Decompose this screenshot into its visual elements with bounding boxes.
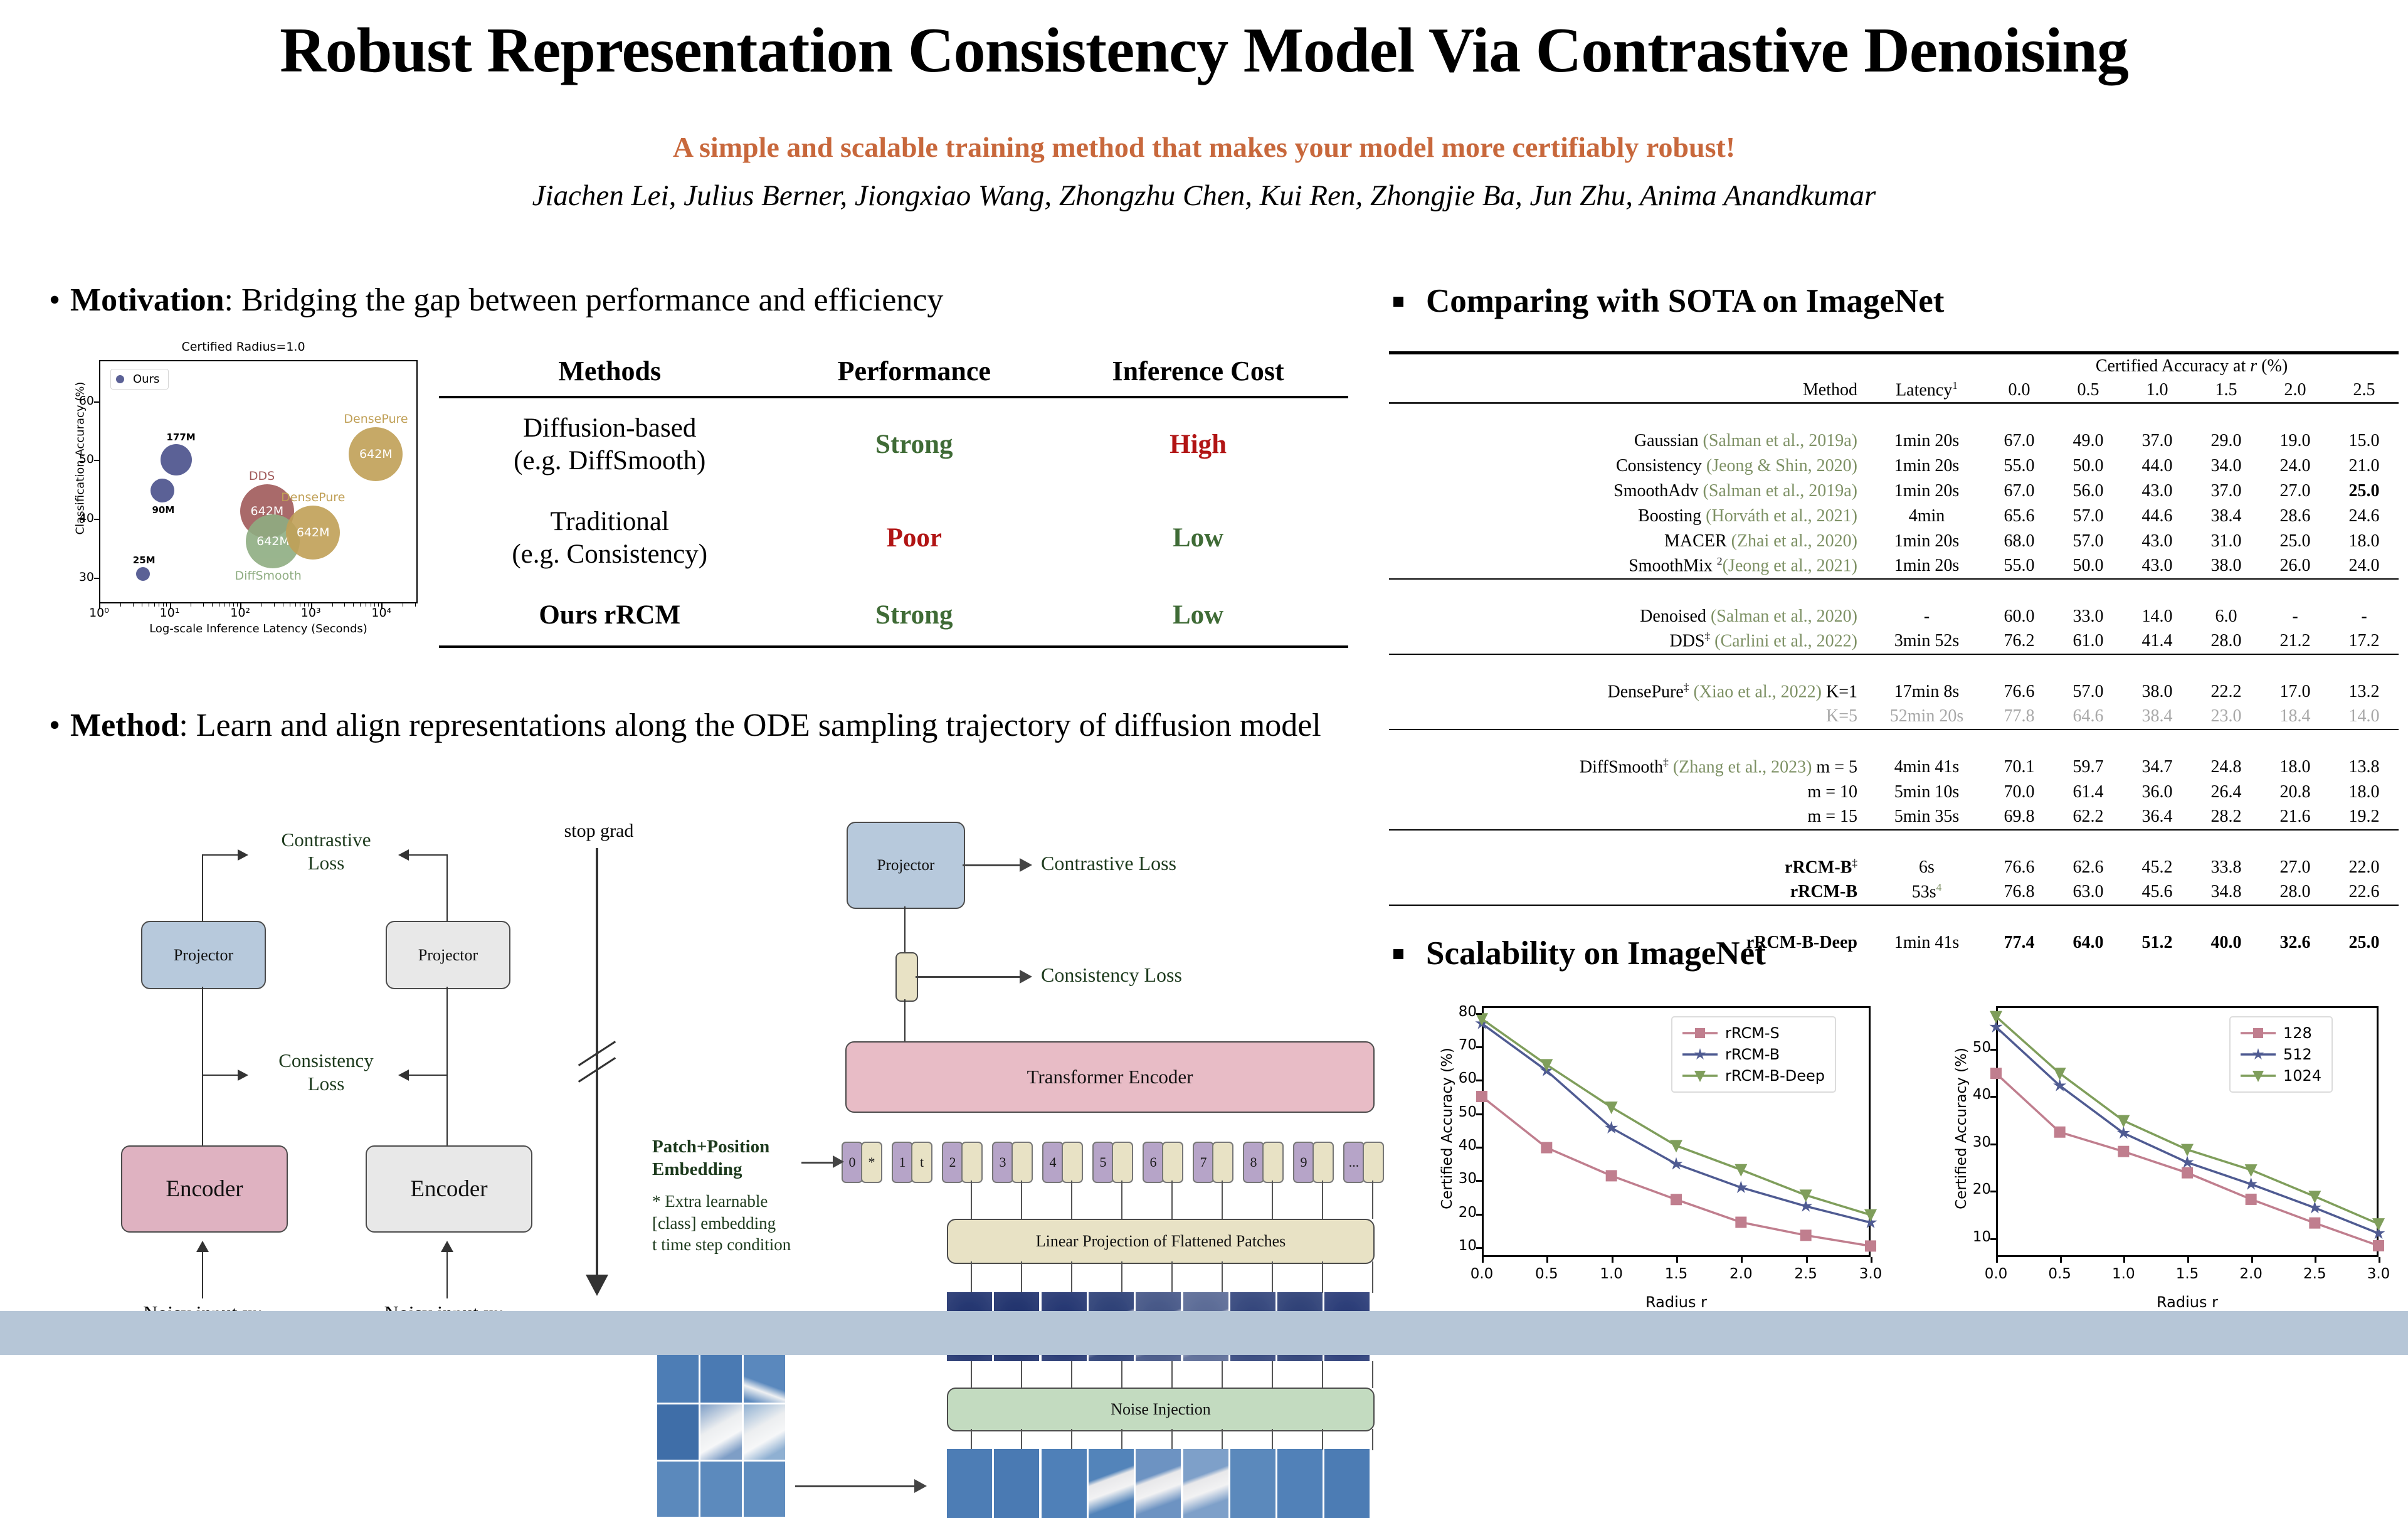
chart-xlabel: Radius r	[1482, 1293, 1871, 1311]
scatter-bubble: 642M	[286, 506, 340, 560]
table-row: m = 105min 10s70.061.436.026.420.818.0	[1389, 780, 2399, 805]
table-row: DiffSmooth‡ (Zhang et al., 2023) m = 54m…	[1389, 755, 2399, 780]
axis-minor-tick	[300, 603, 300, 607]
axis-minor-tick	[233, 603, 234, 607]
bullet-dot-icon: •	[49, 281, 70, 319]
chart-tick-mark	[2060, 1257, 2062, 1263]
bullet-dot-icon-2: •	[49, 706, 70, 745]
cell-accuracy: 29.0	[2192, 428, 2261, 454]
chart-ylabel: Certified Accuracy (%)	[1439, 1019, 1455, 1238]
chart-tick-mark	[1871, 1257, 1872, 1263]
axis-tick-mark	[170, 603, 171, 609]
cell-accuracy: 68.0	[1985, 529, 2054, 554]
group-separator	[1389, 579, 2399, 604]
cell-accuracy: 25.0	[2261, 529, 2330, 554]
cell-accuracy: 24.0	[2330, 554, 2399, 579]
group-separator	[1389, 905, 2399, 930]
arrowhead-input-left	[196, 1241, 209, 1252]
legend-entry: rRCM-B	[1682, 1044, 1825, 1065]
vit-token-connector	[1071, 1181, 1072, 1219]
arrow-contrastive-right	[408, 854, 446, 856]
cell-method-name: DDS‡ (Carlini et al., 2022)	[1389, 629, 1869, 654]
chart-x-tick: 2.0	[1721, 1266, 1761, 1282]
cell-accuracy: 56.0	[2054, 479, 2123, 504]
table-row: K=552min 20s77.864.638.423.018.414.0	[1389, 704, 2399, 730]
source-image-patch	[657, 1462, 699, 1517]
vit-token-connector	[1372, 1181, 1373, 1219]
chart-tick-mark	[1990, 1049, 1996, 1051]
cell-latency: 17min 8s	[1869, 679, 1985, 704]
cell-latency: 1min 20s	[1869, 554, 1985, 579]
chart-tick-mark	[1990, 1191, 1996, 1192]
vit-connectors	[646, 809, 1392, 1330]
legend-label: 1024	[2283, 1067, 2321, 1085]
vit-noise-connector	[1222, 1361, 1223, 1388]
cell-accuracy: 65.6	[1985, 504, 2054, 529]
cell-latency: 1min 20s	[1869, 479, 1985, 504]
encoder-left-label: Encoder	[166, 1176, 243, 1202]
cell-latency: 3min 52s	[1869, 629, 1985, 654]
cell-accuracy: 34.0	[2192, 454, 2261, 479]
vit-token-connector	[1021, 1181, 1022, 1219]
axis-minor-tick	[283, 603, 283, 607]
vit-architecture-diagram: Projector Contrastive Loss Consistency L…	[646, 809, 1392, 1330]
line-proj-up-left	[202, 854, 203, 921]
scatter-title: Certified Radius=1.0	[55, 340, 431, 354]
cell-method-name: m = 10	[1389, 780, 1869, 805]
axis-minor-tick	[415, 603, 416, 607]
source-image-patch	[700, 1404, 742, 1460]
cell-accuracy: 14.0	[2330, 704, 2399, 730]
col-group-header: Certified Accuracy at r (%)	[1985, 353, 2399, 378]
vit-proj-connector	[1171, 1261, 1173, 1293]
cell-accuracy: 13.2	[2330, 679, 2399, 704]
axis-minor-tick	[219, 603, 219, 607]
legend-entry: rRCM-B-Deep	[1682, 1065, 1825, 1086]
cell-method-name: Consistency (Jeong & Shin, 2020)	[1389, 454, 1869, 479]
chart-tick-mark	[1476, 1113, 1482, 1115]
clean-image-patch	[994, 1449, 1039, 1518]
axis-minor-tick	[230, 603, 230, 607]
cell-accuracy: 22.2	[2192, 679, 2261, 704]
chart-tick-mark	[1990, 1144, 1996, 1145]
chart-tick-mark	[1476, 1247, 1482, 1249]
col-radius-header: 1.5	[2192, 378, 2261, 403]
table-row: Boosting (Horváth et al., 2021)4min65.65…	[1389, 504, 2399, 529]
cell-method-name: K=5	[1389, 704, 1869, 730]
cell-accuracy: 28.2	[2192, 805, 2261, 830]
source-image-patch	[744, 1462, 785, 1517]
axis-minor-tick	[133, 603, 134, 607]
projector-right-label: Projector	[418, 946, 478, 965]
axis-minor-tick	[353, 603, 354, 607]
chart-tick-mark	[1476, 1147, 1482, 1149]
scalability-section-heading: Scalability on ImageNet	[1393, 935, 1766, 972]
line-input-enc-right	[446, 1248, 448, 1298]
scatter-bubble: 642M	[349, 427, 403, 481]
axis-minor-tick	[332, 603, 333, 607]
line-enc-proj-left	[202, 987, 203, 1145]
cell-accuracy: 21.6	[2261, 805, 2330, 830]
cell-accuracy: 77.8	[1985, 704, 2054, 730]
scatter-bubble	[161, 444, 192, 475]
scatter-size-label: 90M	[152, 504, 175, 516]
chart-tick-mark	[1476, 1046, 1482, 1048]
stop-grad-line	[596, 848, 598, 1281]
col-radius-header: 1.0	[2123, 378, 2192, 403]
sota-comparison-table: Certified Accuracy at r (%)MethodLatency…	[1389, 351, 2399, 955]
cell-accuracy: 17.0	[2261, 679, 2330, 704]
chart-y-tick: 10	[1445, 1238, 1477, 1254]
table-row: DDS‡ (Carlini et al., 2022)3min 52s76.26…	[1389, 629, 2399, 654]
contrastive-loss-label: Contrastive Loss	[248, 828, 404, 874]
group-separator	[1389, 830, 2399, 855]
group-separator	[1389, 403, 2399, 428]
axis-minor-tick	[191, 603, 191, 607]
scatter-y-tick: 60	[68, 394, 94, 408]
axis-minor-tick	[344, 603, 345, 607]
source-image-patch	[700, 1462, 742, 1517]
vit-proj-connector	[1322, 1261, 1323, 1293]
cell-accuracy: 21.2	[2261, 629, 2330, 654]
vit-proj-connector	[971, 1261, 972, 1293]
cell-accuracy: -	[2261, 604, 2330, 629]
page-title: Robust Representation Consistency Model …	[0, 14, 2408, 87]
axis-tick-mark	[94, 578, 100, 579]
vit-noise-connector	[1322, 1361, 1323, 1388]
legend-swatch	[2241, 1032, 2276, 1034]
consistency-loss-label: Consistency Loss	[248, 1049, 404, 1095]
source-image-patch	[657, 1347, 699, 1403]
cell-accuracy: 44.0	[2123, 454, 2192, 479]
cell-accuracy: 27.0	[2261, 855, 2330, 880]
axis-minor-tick	[308, 603, 309, 607]
axis-tick-mark	[311, 603, 312, 609]
cell-method-name: DensePure‡ (Xiao et al., 2022) K=1	[1389, 679, 1869, 704]
method-architecture-diagram: Projector Encoder Projector Encoder Cont…	[66, 809, 649, 1330]
cell-accuracy: 24.6	[2330, 504, 2399, 529]
table-row: rRCM-B53s476.863.045.634.828.022.6	[1389, 880, 2399, 905]
chart-x-tick: 0.0	[1976, 1266, 2016, 1282]
cell-accuracy: -	[2330, 604, 2399, 629]
vit-clean-connector	[1071, 1429, 1072, 1450]
cell-performance: Strong	[780, 585, 1048, 647]
chart-tick-mark	[1612, 1257, 1613, 1263]
legend-entry: 128	[2241, 1022, 2321, 1044]
legend-label: 512	[2283, 1046, 2312, 1063]
legend-entry: 512	[2241, 1044, 2321, 1065]
vit-token-connector	[1171, 1181, 1173, 1219]
col-inference-cost: Inference Cost	[1048, 351, 1348, 397]
vit-clean-connector	[1021, 1429, 1022, 1450]
cell-method: Diffusion-based(e.g. DiffSmooth)	[439, 397, 780, 492]
cell-accuracy: 22.0	[2330, 855, 2399, 880]
axis-minor-tick	[360, 603, 361, 607]
group-separator	[1389, 730, 2399, 755]
cell-method-name: Denoised (Salman et al., 2020)	[1389, 604, 1869, 629]
cell-latency: 1min 20s	[1869, 428, 1985, 454]
legend-entry: rRCM-S	[1682, 1022, 1825, 1044]
axis-minor-tick	[159, 603, 159, 607]
chart-x-tick: 0.5	[1526, 1266, 1566, 1282]
group-separator	[1389, 654, 2399, 679]
chart-tick-mark	[1990, 1096, 1996, 1098]
chart-tick-mark	[1996, 1257, 1998, 1263]
cell-accuracy: 38.4	[2192, 504, 2261, 529]
scalability-batch-chart: 10203040500.00.51.01.52.02.53.0Certified…	[1928, 991, 2405, 1317]
method-text: : Learn and align representations along …	[179, 708, 1321, 743]
axis-minor-tick	[224, 603, 225, 607]
col-method-header: Method	[1389, 378, 1869, 403]
chart-legend: rRCM-SrRCM-BrRCM-B-Deep	[1671, 1016, 1836, 1093]
table-row: MACER (Zhai et al., 2020)1min 20s68.057.…	[1389, 529, 2399, 554]
cell-accuracy: 26.4	[2192, 780, 2261, 805]
cell-accuracy: 70.0	[1985, 780, 2054, 805]
scatter-series-label: DDS	[249, 469, 275, 483]
source-image-patch	[700, 1347, 742, 1403]
cell-method-name: m = 15	[1389, 805, 1869, 830]
axis-minor-tick	[261, 603, 262, 607]
legend-label: rRCM-B-Deep	[1725, 1067, 1825, 1085]
table-row: Traditional(e.g. Consistency)PoorLow	[439, 492, 1348, 585]
cell-accuracy: 38.0	[2192, 554, 2261, 579]
cell-latency: 5min 35s	[1869, 805, 1985, 830]
cell-accuracy: 6.0	[2192, 604, 2261, 629]
legend-entry: 1024	[2241, 1065, 2321, 1086]
cell-accuracy: 62.2	[2054, 805, 2123, 830]
axis-minor-tick	[295, 603, 296, 607]
clean-image-patch	[1042, 1449, 1087, 1518]
cell-accuracy: 64.6	[2054, 704, 2123, 730]
cell-accuracy: 21.0	[2330, 454, 2399, 479]
axis-minor-tick	[154, 603, 155, 607]
chart-y-tick: 80	[1445, 1004, 1477, 1020]
chart-tick-mark	[2379, 1257, 2380, 1263]
cell-accuracy: 76.2	[1985, 629, 2054, 654]
cell-accuracy: 25.0	[2330, 479, 2399, 504]
cell-method: Traditional(e.g. Consistency)	[439, 492, 780, 585]
axis-minor-tick	[371, 603, 371, 607]
projector-left-label: Projector	[174, 946, 233, 965]
axis-minor-tick	[274, 603, 275, 607]
scatter-series-label: DiffSmooth	[235, 569, 301, 583]
square-bullet-icon	[1393, 297, 1403, 307]
axis-minor-tick	[212, 603, 213, 607]
cell-method-name: SmoothMix 2(Jeong et al., 2021)	[1389, 554, 1869, 579]
axis-tick-mark	[381, 603, 383, 609]
cell-accuracy: 45.2	[2123, 855, 2192, 880]
col-radius-header: 2.0	[2261, 378, 2330, 403]
method-label: Method	[70, 708, 179, 743]
col-radius-header: 2.5	[2330, 378, 2399, 403]
chart-tick-mark	[1476, 1080, 1482, 1081]
clean-image-patch	[1277, 1449, 1323, 1518]
source-image-patch	[657, 1404, 699, 1460]
scatter-y-tick: 30	[68, 570, 94, 584]
axis-tick-mark	[99, 603, 100, 609]
cell-accuracy: 19.0	[2261, 428, 2330, 454]
cell-accuracy: 55.0	[1985, 554, 2054, 579]
chart-x-tick: 1.0	[2103, 1266, 2143, 1282]
cell-accuracy: 18.0	[2261, 755, 2330, 780]
motivation-scatter-chart: Certified Radius=1.0 Classification Accu…	[55, 339, 431, 640]
cell-accuracy: 63.0	[2054, 880, 2123, 905]
subtitle: A simple and scalable training method th…	[0, 130, 2408, 164]
vit-clean-connector	[971, 1429, 972, 1450]
axis-minor-tick	[290, 603, 290, 607]
table-row: rRCM-B‡6s76.662.645.233.827.022.0	[1389, 855, 2399, 880]
cell-latency: 52min 20s	[1869, 704, 1985, 730]
scatter-plot-area: Ours 25M90M177M642MDDS642MDiffSmooth642M…	[99, 360, 418, 603]
axis-minor-tick	[142, 603, 142, 607]
cell-accuracy: 36.4	[2123, 805, 2192, 830]
vit-token-connector	[1222, 1181, 1223, 1219]
scatter-y-tick: 50	[68, 452, 94, 466]
cell-accuracy: 38.4	[2123, 704, 2192, 730]
arrow-consistency-right	[408, 1075, 446, 1076]
vit-clean-connector	[1372, 1429, 1373, 1450]
chart-x-tick: 1.5	[1656, 1266, 1696, 1282]
cell-latency: -	[1869, 604, 1985, 629]
bottom-color-band	[0, 1311, 2408, 1355]
cell-accuracy: 24.0	[2261, 454, 2330, 479]
chart-tick-mark	[1476, 1180, 1482, 1182]
cell-accuracy: 38.0	[2123, 679, 2192, 704]
cell-latency: 53s4	[1869, 880, 1985, 905]
cell-accuracy: 57.0	[2054, 529, 2123, 554]
scatter-series-label: DensePure	[344, 412, 408, 426]
cell-inference-cost: Low	[1048, 585, 1348, 647]
cell-accuracy: 67.0	[1985, 428, 2054, 454]
cell-accuracy: 43.0	[2123, 554, 2192, 579]
cell-method-name: SmoothAdv (Salman et al., 2019a)	[1389, 479, 1869, 504]
cell-latency: 5min 10s	[1869, 780, 1985, 805]
vit-proj-connector	[1272, 1261, 1273, 1293]
cell-accuracy: 51.2	[2123, 930, 2192, 955]
cell-method-name: rRCM-B	[1389, 880, 1869, 905]
scatter-size-label: 25M	[133, 555, 156, 566]
clean-image-patch	[1136, 1449, 1181, 1518]
cell-method-name: DiffSmooth‡ (Zhang et al., 2023) m = 5	[1389, 755, 1869, 780]
table-row: Ours rRCMStrongLow	[439, 585, 1348, 647]
axis-minor-tick	[366, 603, 366, 607]
vit-noise-connector	[1272, 1361, 1273, 1388]
cell-method-name: Gaussian (Salman et al., 2019a)	[1389, 428, 1869, 454]
line-proj-up-right	[446, 854, 448, 921]
cell-accuracy: 28.0	[2261, 880, 2330, 905]
vit-proj-connector	[1222, 1261, 1223, 1293]
cell-accuracy: 67.0	[1985, 479, 2054, 504]
cell-method-name: Boosting (Horváth et al., 2021)	[1389, 504, 1869, 529]
cell-accuracy: 28.6	[2261, 504, 2330, 529]
vit-noise-connector	[1021, 1361, 1022, 1388]
sota-heading-text: Comparing with SOTA on ImageNet	[1426, 283, 1944, 319]
clean-patch-strip	[947, 1449, 1372, 1518]
chart-x-tick: 3.0	[1851, 1266, 1891, 1282]
scatter-series-label: DensePure	[281, 491, 345, 504]
cell-accuracy: 77.4	[1985, 930, 2054, 955]
chart-legend: 1285121024	[2229, 1016, 2333, 1093]
axis-tick-mark	[240, 603, 241, 609]
scalability-models-chart: 10203040506070800.00.51.01.52.02.53.0Cer…	[1408, 991, 1903, 1317]
cell-latency: 4min 41s	[1869, 755, 1985, 780]
legend-dot-icon	[116, 375, 124, 383]
vit-clean-connector	[1121, 1429, 1122, 1450]
clean-image-patch	[1089, 1449, 1134, 1518]
chart-tick-mark	[2123, 1257, 2125, 1263]
cell-accuracy: 49.0	[2054, 428, 2123, 454]
chart-ylabel: Certified Accuracy (%)	[1953, 1019, 1970, 1238]
vit-token-connector	[1121, 1181, 1122, 1219]
line-enc-proj-right	[446, 987, 448, 1145]
cell-accuracy: 26.0	[2261, 554, 2330, 579]
cell-accuracy: 57.0	[2054, 504, 2123, 529]
cell-accuracy: 41.4	[2123, 629, 2192, 654]
chart-x-tick: 2.5	[1786, 1266, 1826, 1282]
authors-list: Jiachen Lei, Julius Berner, Jiongxiao Wa…	[0, 179, 2408, 213]
cell-accuracy: 33.8	[2192, 855, 2261, 880]
arrowhead-input-right	[441, 1241, 453, 1252]
table-row: Gaussian (Salman et al., 2019a)1min 20s6…	[1389, 428, 2399, 454]
axis-minor-tick	[237, 603, 238, 607]
cell-accuracy: 57.0	[2054, 679, 2123, 704]
cell-accuracy: 34.8	[2192, 880, 2261, 905]
cell-accuracy: 25.0	[2330, 930, 2399, 955]
cell-latency: 4min	[1869, 504, 1985, 529]
motivation-bullet: •Motivation: Bridging the gap between pe…	[49, 281, 1378, 319]
cell-latency: 1min 20s	[1869, 529, 1985, 554]
cell-accuracy: 22.6	[2330, 880, 2399, 905]
chart-x-tick: 1.0	[1592, 1266, 1632, 1282]
clean-image-patch	[1324, 1449, 1370, 1518]
chart-x-tick: 0.5	[2040, 1266, 2080, 1282]
chart-x-tick: 3.0	[2358, 1266, 2399, 1282]
cell-accuracy: 13.8	[2330, 755, 2399, 780]
axis-minor-tick	[120, 603, 121, 607]
cell-method-name: rRCM-B‡	[1389, 855, 1869, 880]
motivation-text: : Bridging the gap between performance a…	[224, 282, 944, 318]
scatter-legend: Ours	[110, 369, 169, 390]
cell-accuracy: 61.4	[2054, 780, 2123, 805]
axis-tick-mark	[94, 401, 100, 403]
axis-minor-tick	[166, 603, 167, 607]
vit-token-connector	[971, 1181, 972, 1219]
legend-swatch	[2241, 1053, 2276, 1056]
chart-xlabel: Radius r	[1996, 1293, 2379, 1311]
vit-noise-connector	[1171, 1361, 1173, 1388]
cell-accuracy: 69.8	[1985, 805, 2054, 830]
chart-x-tick: 1.5	[2167, 1266, 2207, 1282]
cell-accuracy: 50.0	[2054, 554, 2123, 579]
cell-accuracy: 43.0	[2123, 479, 2192, 504]
cell-accuracy: 27.0	[2261, 479, 2330, 504]
comparison-table: Methods Performance Inference Cost Diffu…	[439, 351, 1348, 648]
chart-tick-mark	[1741, 1257, 1743, 1263]
cell-accuracy: 76.6	[1985, 855, 2054, 880]
legend-swatch	[2241, 1075, 2276, 1077]
legend-label: 128	[2283, 1024, 2312, 1042]
cell-accuracy: 32.6	[2261, 930, 2330, 955]
axis-minor-tick	[378, 603, 379, 607]
axis-minor-tick	[203, 603, 204, 607]
cell-accuracy: 62.6	[2054, 855, 2123, 880]
cell-accuracy: 43.0	[2123, 529, 2192, 554]
legend-label: rRCM-B	[1725, 1046, 1780, 1063]
arrow-src-to-strip	[795, 1485, 917, 1487]
vit-noise-connector	[1121, 1361, 1122, 1388]
cell-accuracy: 55.0	[1985, 454, 2054, 479]
chart-tick-mark	[2251, 1257, 2253, 1263]
